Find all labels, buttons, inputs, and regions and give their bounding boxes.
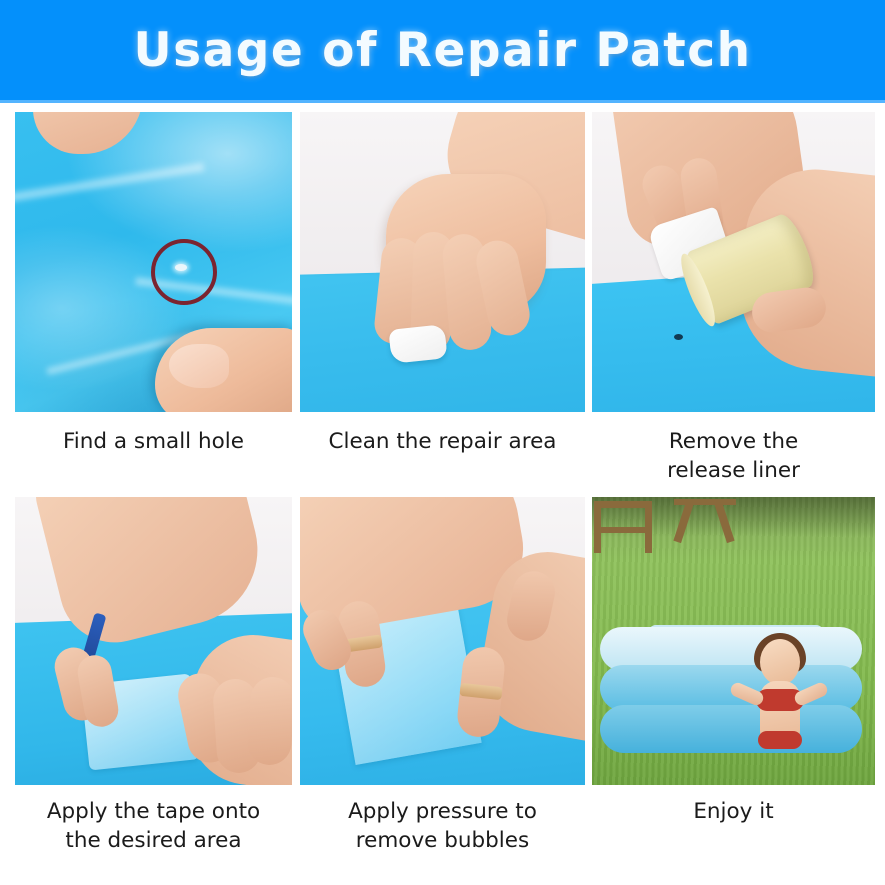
arm xyxy=(729,681,766,708)
find-hole-photo xyxy=(15,112,292,412)
step-6-cell: Enjoy it xyxy=(592,497,875,785)
annotation-circle xyxy=(151,239,217,305)
thumb xyxy=(155,328,292,412)
press-patch-photo xyxy=(300,497,585,785)
cotton-pad xyxy=(388,324,447,364)
step-4-cell: Apply the tape onto the desired area xyxy=(15,497,292,785)
finger xyxy=(246,676,292,767)
step-3-caption: Remove the release liner xyxy=(592,427,875,485)
step-5-cell: Apply pressure to remove bubbles xyxy=(300,497,585,785)
puncture-hole xyxy=(674,334,683,340)
child xyxy=(732,639,824,769)
apply-tape-photo xyxy=(15,497,292,785)
step-2-caption: Clean the repair area xyxy=(300,427,585,456)
inflatable-pool xyxy=(600,609,862,769)
swimsuit-bottom xyxy=(758,731,802,749)
step-1-caption: Find a small hole xyxy=(15,427,292,456)
head xyxy=(760,639,800,685)
thumbnail xyxy=(169,344,229,388)
caption-line: Apply pressure to xyxy=(300,797,585,826)
caption-line: remove bubbles xyxy=(300,826,585,855)
caption-line: Enjoy it xyxy=(592,797,875,826)
caption-line: Find a small hole xyxy=(15,427,292,456)
infographic-page: Usage of Repair Patch Find a small hole xyxy=(0,0,885,885)
caption-line: release liner xyxy=(592,456,875,485)
caption-line: Remove the xyxy=(592,427,875,456)
wooden-playset xyxy=(594,499,744,565)
step-4-caption: Apply the tape onto the desired area xyxy=(15,797,292,855)
clean-area-photo xyxy=(300,112,585,412)
caption-line: Clean the repair area xyxy=(300,427,585,456)
step-2-cell: Clean the repair area xyxy=(300,112,585,412)
steps-grid: Find a small hole Clean the repair area xyxy=(0,103,885,885)
page-title: Usage of Repair Patch xyxy=(133,23,751,78)
arm xyxy=(793,681,830,708)
step-1-cell: Find a small hole xyxy=(15,112,292,412)
caption-line: the desired area xyxy=(15,826,292,855)
enjoy-pool-photo xyxy=(592,497,875,785)
step-6-caption: Enjoy it xyxy=(592,797,875,826)
caption-line: Apply the tape onto xyxy=(15,797,292,826)
step-5-caption: Apply pressure to remove bubbles xyxy=(300,797,585,855)
step-3-cell: Remove the release liner xyxy=(592,112,875,412)
remove-liner-photo xyxy=(592,112,875,412)
header-banner: Usage of Repair Patch xyxy=(0,0,885,100)
